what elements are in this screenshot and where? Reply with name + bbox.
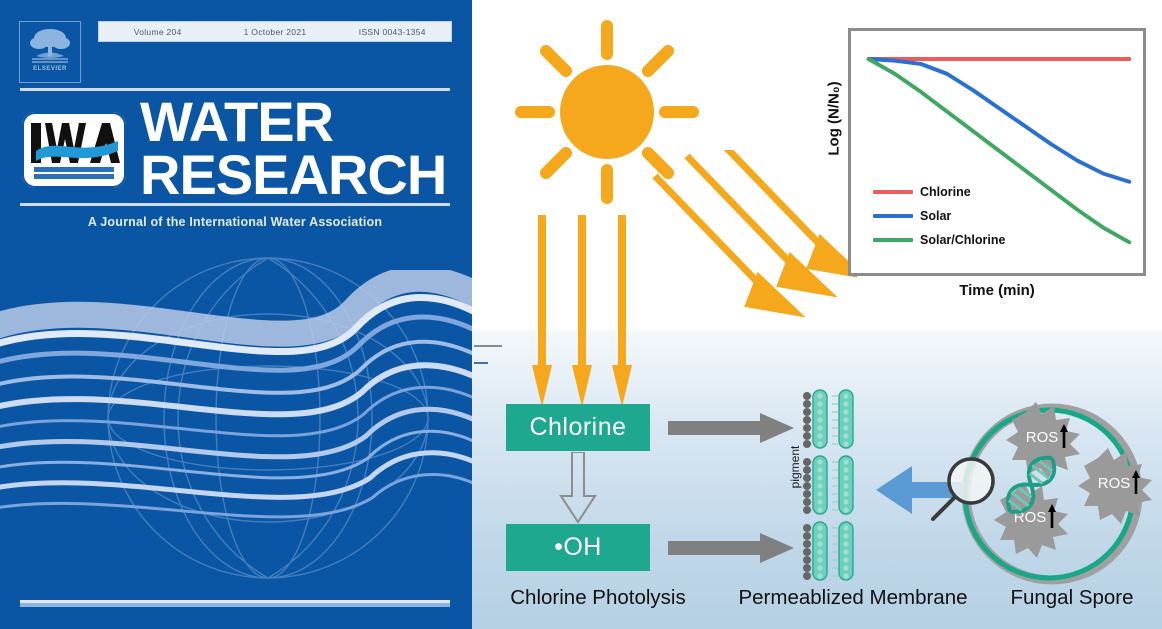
pigment-dot [803,498,811,506]
kinetics-chart: Log (N/N₀) Chlorine Solar Solar/Chlorine [810,10,1158,300]
lipid-head [843,525,848,530]
lipid-head [817,525,822,530]
pigment-dot [803,540,811,548]
pigment-dot [803,506,811,514]
pigment-dot [803,440,811,448]
pigment-dot [803,564,811,572]
lipid-head [817,409,822,414]
lipid-head [843,433,848,438]
svg-text:ROS: ROS [1098,475,1131,492]
lipid-head [843,557,848,562]
lipid-head [843,393,848,398]
lipid-head [843,491,848,496]
water-surface-line [474,345,502,347]
chart-line-solar [869,59,1130,182]
pigment-dot [803,556,811,564]
legend-swatch-solar [873,214,913,218]
waves-graphic [0,270,472,570]
lipid-head [843,483,848,488]
lipid-head [843,401,848,406]
lipid-head [843,499,848,504]
pigment-dot [803,458,811,466]
pigment-dot [803,400,811,408]
gray-right-arrow-icon-2 [668,531,794,565]
lipid-head [817,401,822,406]
lipid-head [817,533,822,538]
hydroxyl-radical-label: •OH [554,533,602,562]
pigment-dot [803,548,811,556]
lipid-head [817,441,822,446]
gray-right-arrow-icon-1 [668,411,794,445]
lipid-head [817,499,822,504]
issue-info-bar: Volume 204 1 October 2021 ISSN 0043-1354 [98,21,452,42]
lipid-head [817,507,822,512]
downward-light-beams [524,215,664,407]
lipid-head [843,409,848,414]
lipid-head [817,475,822,480]
chart-x-axis-label: Time (min) [848,282,1146,299]
lipid-bilayer-membrane [802,388,872,582]
lipid-head [843,541,848,546]
cover-divider-mid [20,203,450,206]
pigment-dot [803,524,811,532]
lipid-head [843,441,848,446]
pigment-dot [803,416,811,424]
lipid-head [843,467,848,472]
legend-label-solar: Solar [920,209,951,223]
ros-burst-3: ROS [994,482,1068,558]
svg-text:ROS: ROS [1026,429,1059,446]
caption-spore: Fungal Spore [982,586,1162,610]
pigment-dot [803,490,811,498]
issue-date: 1 October 2021 [216,27,333,37]
hollow-down-arrow-icon [558,452,598,524]
lipid-head [843,533,848,538]
cover-divider-bottom [20,600,450,607]
journal-title-line2: RESEARCH [140,149,460,202]
lipid-head [817,467,822,472]
lipid-head [843,573,848,578]
lipid-head [817,433,822,438]
lipid-head [843,417,848,422]
legend-swatch-chlorine [873,190,913,194]
pigment-dot [803,466,811,474]
page-title: WATER RESEARCH [140,96,460,201]
issue-issn: ISSN 0043-1354 [334,27,451,37]
magnifier-icon [927,455,999,523]
journal-subtitle: A Journal of the International Water Ass… [20,215,450,229]
elsevier-logo: ELSEVIER [19,21,81,83]
lipid-head [817,483,822,488]
lipid-head [843,549,848,554]
lipid-head [817,417,822,422]
legend-label-solar-chlorine: Solar/Chlorine [920,233,1005,247]
legend-item-solar-chlorine: Solar/Chlorine [873,233,1005,247]
lipid-head [817,459,822,464]
issue-volume: Volume 204 [99,27,216,37]
legend-label-chlorine: Chlorine [920,185,971,199]
caption-membrane: Permeablized Membrane [708,586,998,610]
chart-y-axis-label: Log (N/N₀) [826,49,843,189]
lipid-head [817,491,822,496]
journal-title-line1: WATER [140,96,460,149]
pigment-dot [803,392,811,400]
lipid-head [843,425,848,430]
chart-plot-area: Chlorine Solar Solar/Chlorine [848,28,1146,276]
lipid-head [817,565,822,570]
chlorine-box-label: Chlorine [529,413,626,442]
hydroxyl-radical-box: •OH [506,524,650,571]
ros-burst-2: ROS [1078,448,1152,524]
pigment-dot [803,424,811,432]
elsevier-wordmark: ELSEVIER [20,66,80,72]
lipid-head [817,557,822,562]
journal-cover: ELSEVIER Volume 204 1 October 2021 ISSN … [0,0,472,629]
chlorine-box: Chlorine [506,404,650,451]
iwa-logo-icon [28,117,120,183]
pigment-dot [803,482,811,490]
lipid-head [817,541,822,546]
pigment-dot [803,474,811,482]
graphical-abstract: ELSEVIER Volume 204 1 October 2021 ISSN … [0,0,1162,629]
lipid-head [843,459,848,464]
lipid-head [843,565,848,570]
lipid-head [817,393,822,398]
iwa-logo [22,112,126,188]
pigment-dot [803,532,811,540]
lipid-head [843,507,848,512]
lipid-head [843,475,848,480]
abstract-diagram: Log (N/N₀) Chlorine Solar Solar/Chlorine [472,0,1162,629]
lipid-head [817,549,822,554]
pigment-dot [803,572,811,580]
pigment-dot [803,432,811,440]
legend-item-chlorine: Chlorine [873,185,971,199]
pigment-label: pigment [788,432,802,502]
legend-swatch-solar-chlorine [873,238,913,242]
elsevier-tree-icon [26,26,74,64]
pigment-dot [803,408,811,416]
lipid-head [817,573,822,578]
lipid-head [817,425,822,430]
caption-photolysis: Chlorine Photolysis [478,586,718,610]
legend-item-solar: Solar [873,209,951,223]
water-surface-tick [474,362,488,364]
